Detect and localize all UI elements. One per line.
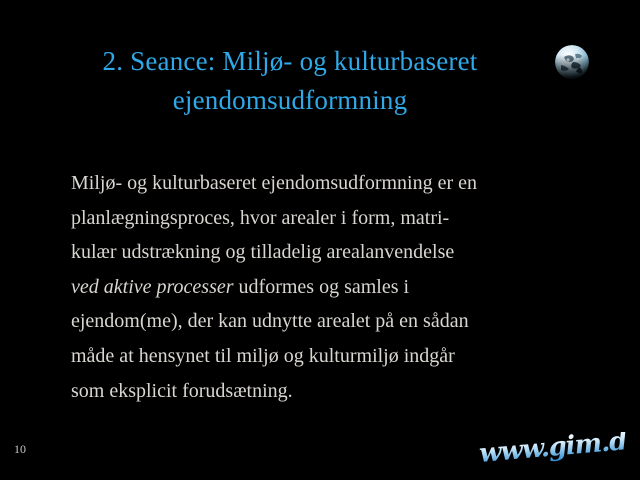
- body-emphasis-phrase: ved aktive processer: [71, 276, 234, 298]
- body-line-2: planlægningsproces, hvor arealer i form,…: [71, 201, 591, 236]
- body-line-1: Miljø- og kulturbaseret ejendomsudformni…: [71, 166, 591, 201]
- body-line-4-tail: udformes og samles i: [234, 276, 410, 298]
- body-line-7: som eksplicit forudsætning.: [71, 374, 591, 409]
- presentation-slide: 2. Seance: Miljø- og kulturbaseret ejend…: [0, 0, 640, 480]
- body-line-5: ejendom(me), der kan udnytte arealet på …: [71, 304, 591, 339]
- earth-globe-icon: [551, 43, 593, 81]
- body-line-6: måde at hensynet til miljø og kulturmilj…: [71, 339, 591, 374]
- brand-logo: www.gim.dk: [476, 432, 626, 474]
- page-number: 10: [14, 442, 26, 456]
- brand-logo-text: www.gim.dk: [478, 432, 626, 469]
- slide-title: 2. Seance: Miljø- og kulturbaseret ejend…: [40, 42, 540, 120]
- body-line-4: ved aktive processer udformes og samles …: [71, 270, 591, 305]
- slide-body-text: Miljø- og kulturbaseret ejendomsudformni…: [71, 166, 591, 408]
- body-line-3: kulær udstrækning og tilladelig arealanv…: [71, 235, 591, 270]
